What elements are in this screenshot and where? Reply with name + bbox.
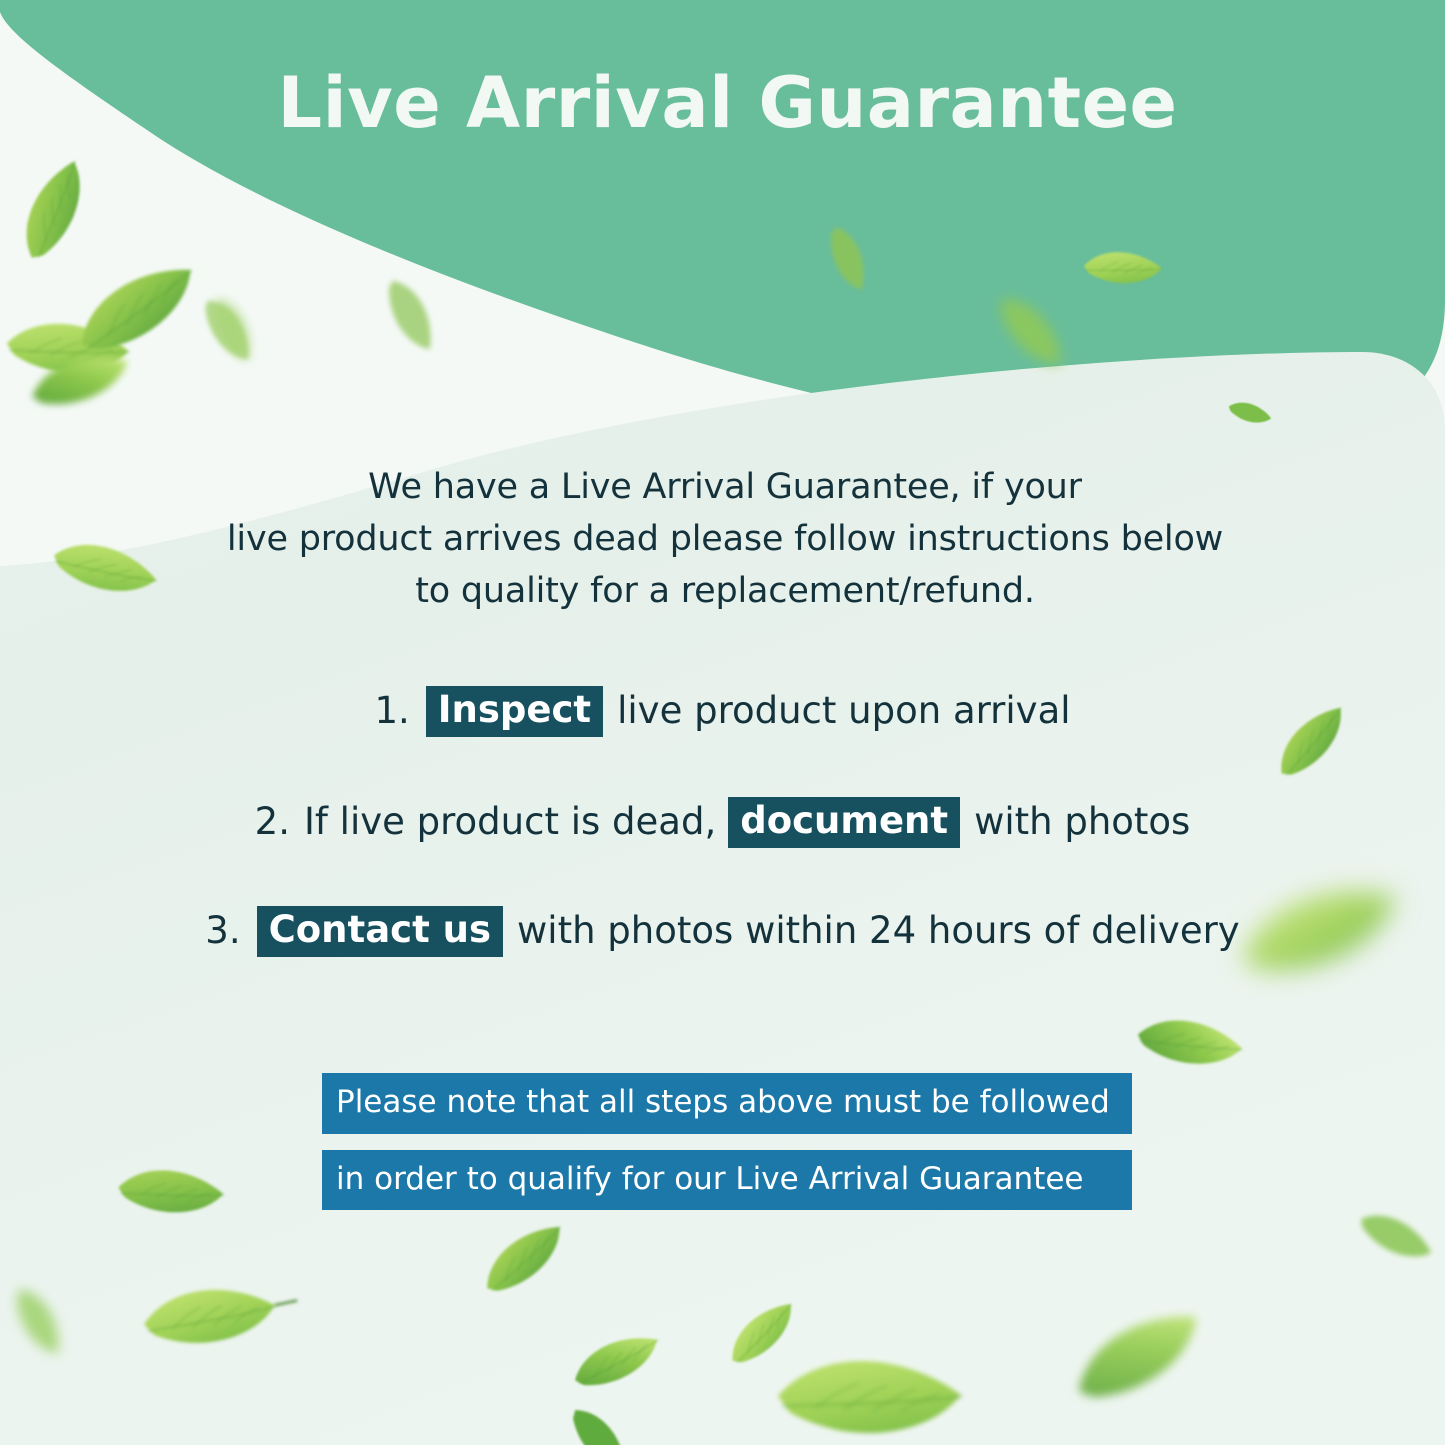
live-arrival-guarantee-poster: Live Arrival Guarantee We have a Live Ar… — [0, 0, 1445, 1445]
footer-note-line-1: Please note that all steps above must be… — [322, 1073, 1132, 1134]
page-title: Live Arrival Guarantee — [0, 68, 1445, 138]
steps-list: 1. Inspect live product upon arrival 2. … — [0, 686, 1445, 957]
step-text-1: live product upon arrival — [617, 689, 1070, 733]
footer-notes: Please note that all steps above must be… — [322, 1073, 1132, 1210]
step-text-3: with photos within 24 hours of delivery — [517, 909, 1240, 953]
step-item-1: 1. Inspect live product upon arrival — [0, 686, 1445, 737]
intro-line-2: live product arrives dead please follow … — [227, 519, 1223, 559]
intro-line-3: to quality for a replacement/refund. — [415, 571, 1035, 611]
intro-line-1: We have a Live Arrival Guarantee, if you… — [368, 467, 1082, 507]
step-number-1: 1. — [374, 689, 409, 733]
step-highlight-inspect[interactable]: Inspect — [426, 686, 603, 737]
step-highlight-document[interactable]: document — [728, 797, 960, 848]
step-item-3: 3. Contact us with photos within 24 hour… — [0, 906, 1445, 957]
step-number-2: 2. — [255, 800, 290, 844]
step-lead-2: If live product is dead, — [304, 800, 716, 844]
step-highlight-contact-us[interactable]: Contact us — [257, 906, 503, 957]
step-text-2: with photos — [974, 800, 1190, 844]
intro-paragraph: We have a Live Arrival Guarantee, if you… — [160, 462, 1290, 617]
footer-note-line-2: in order to qualify for our Live Arrival… — [322, 1150, 1132, 1211]
step-number-3: 3. — [205, 909, 240, 953]
step-item-2: 2. If live product is dead, document wit… — [0, 797, 1445, 848]
